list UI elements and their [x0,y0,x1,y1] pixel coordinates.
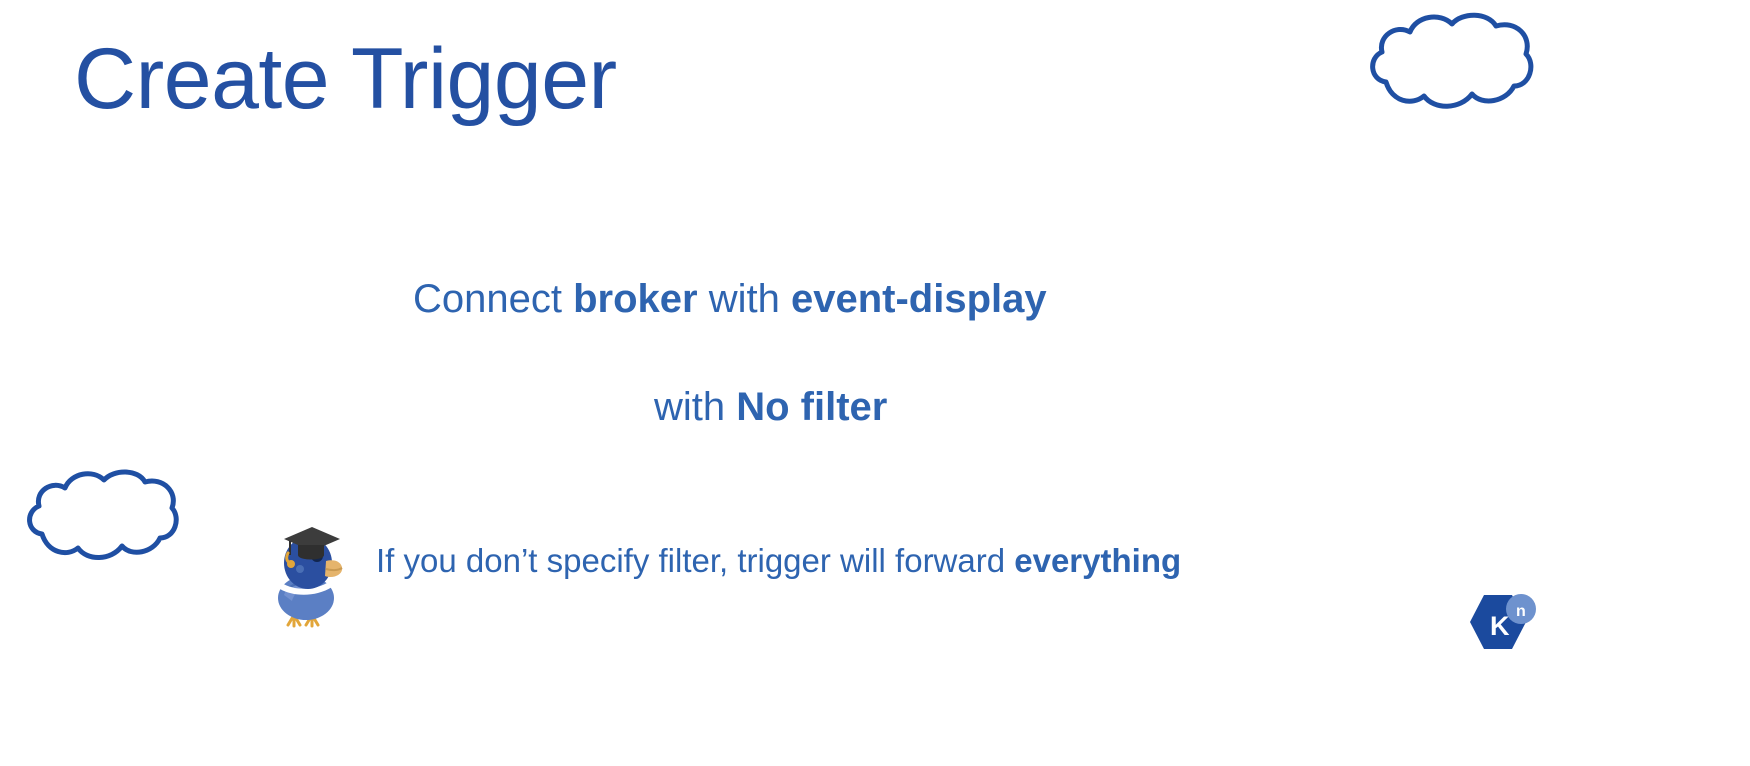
line-2-bold-no-filter: No filter [736,385,887,429]
line-1-prefix: Connect [413,277,573,321]
line-1-middle: with [698,277,791,321]
cloud-outline-icon [22,466,180,571]
graduate-bird-icon [268,503,348,629]
line-3-prefix: If you don’t specify filter, trigger wil… [376,542,1014,579]
page-title: Create Trigger [74,36,617,122]
cloud-outline-icon [1364,10,1536,119]
knative-logo-letter: K [1490,611,1510,641]
slide-canvas: Create Trigger Connect broker with event… [0,0,1750,766]
line-1-bold-broker: broker [573,277,698,321]
line-3-bold-everything: everything [1014,542,1181,579]
statement-line-2: with No filter [654,383,887,431]
statement-line-1: Connect broker with event-display [413,275,1047,323]
line-2-prefix: with [654,385,736,429]
knative-logo-badge-letter: n [1516,603,1526,620]
line-1-bold-event-display: event-display [791,277,1047,321]
statement-line-3: If you don’t specify filter, trigger wil… [376,541,1181,581]
knative-logo: K n [1449,589,1541,671]
